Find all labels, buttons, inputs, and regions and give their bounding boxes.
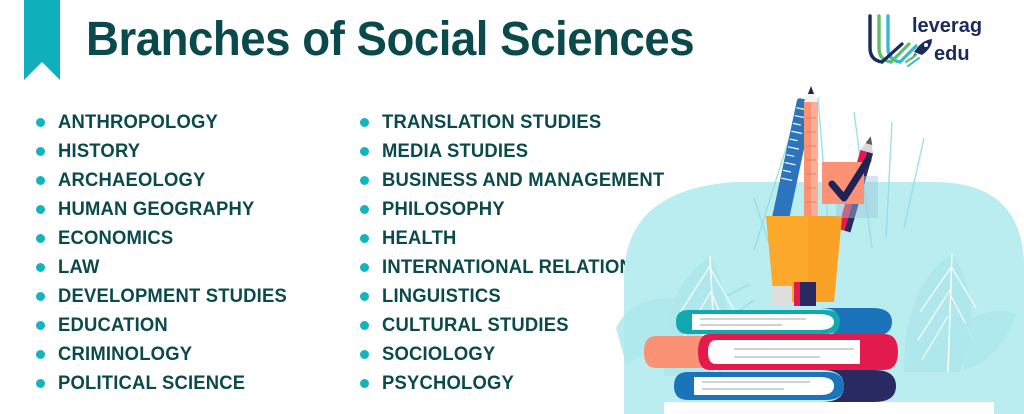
list-item[interactable]: EDUCATION [36,311,356,340]
shelf-table [664,402,994,414]
pencil-orange-icon [804,86,818,230]
list-item-label: HUMAN GEOGRAPHY [58,199,254,221]
infographic-canvas: Branches of Social Sciences leverage edu [0,0,1024,414]
bullet-icon [360,321,369,330]
list-column-left: ANTHROPOLOGY HISTORY ARCHAEOLOGY HUMAN G… [36,108,356,398]
book-middle [644,334,898,370]
list-item-label: ANTHROPOLOGY [58,112,218,134]
bullet-icon [36,118,45,127]
list-item-label: MEDIA STUDIES [382,141,528,163]
books-and-stationery-illustration [604,78,1024,414]
logo-word-leverage: leverage [912,15,982,37]
bullet-icon [360,147,369,156]
bullet-icon [36,292,45,301]
list-item[interactable]: ANTHROPOLOGY [36,108,356,137]
bullet-icon [36,263,45,272]
logo-word-edu: edu [934,43,970,65]
list-item-label: ARCHAEOLOGY [58,170,206,192]
list-item[interactable]: CRIMINOLOGY [36,340,356,369]
list-item-label: CRIMINOLOGY [58,344,192,366]
open-book-icon [870,16,916,62]
bullet-icon [36,350,45,359]
list-item-label: LINGUISTICS [382,286,501,308]
bullet-icon [36,379,45,388]
bullet-icon [36,205,45,214]
list-item-label: HEALTH [382,228,457,250]
list-item-label: LAW [58,257,100,279]
bullet-icon [36,234,45,243]
list-item-label: PHILOSOPHY [382,199,505,221]
list-item-label: DEVELOPMENT STUDIES [58,286,287,308]
list-item-label: HISTORY [58,141,140,163]
list-item[interactable]: POLITICAL SCIENCE [36,369,356,398]
list-item-label: ECONOMICS [58,228,173,250]
list-item[interactable]: ARCHAEOLOGY [36,166,356,195]
list-item[interactable]: LAW [36,253,356,282]
bullet-icon [360,263,369,272]
bullet-icon [360,205,369,214]
bullet-icon [36,176,45,185]
bullet-icon [36,321,45,330]
leverage-edu-logo[interactable]: leverage edu [862,8,982,70]
bullet-icon [360,118,369,127]
list-item[interactable]: HISTORY [36,137,356,166]
bookmark-ribbon-icon [24,0,60,80]
bullet-icon [360,176,369,185]
bullet-icon [360,234,369,243]
list-item-label: SOCIOLOGY [382,344,495,366]
bullet-icon [360,292,369,301]
list-item-label: POLITICAL SCIENCE [58,373,245,395]
list-item-label: PSYCHOLOGY [382,373,514,395]
bullet-icon [360,350,369,359]
bullet-icon [360,379,369,388]
list-item-label: EDUCATION [58,315,168,337]
list-item[interactable]: ECONOMICS [36,224,356,253]
bullet-icon [36,147,45,156]
page-title: Branches of Social Sciences [86,12,694,67]
book-bottom [674,370,896,402]
list-item-label: TRANSLATION STUDIES [382,112,601,134]
list-item[interactable]: DEVELOPMENT STUDIES [36,282,356,311]
book-top [676,308,892,336]
list-item-label: CULTURAL STUDIES [382,315,569,337]
list-item[interactable]: HUMAN GEOGRAPHY [36,195,356,224]
